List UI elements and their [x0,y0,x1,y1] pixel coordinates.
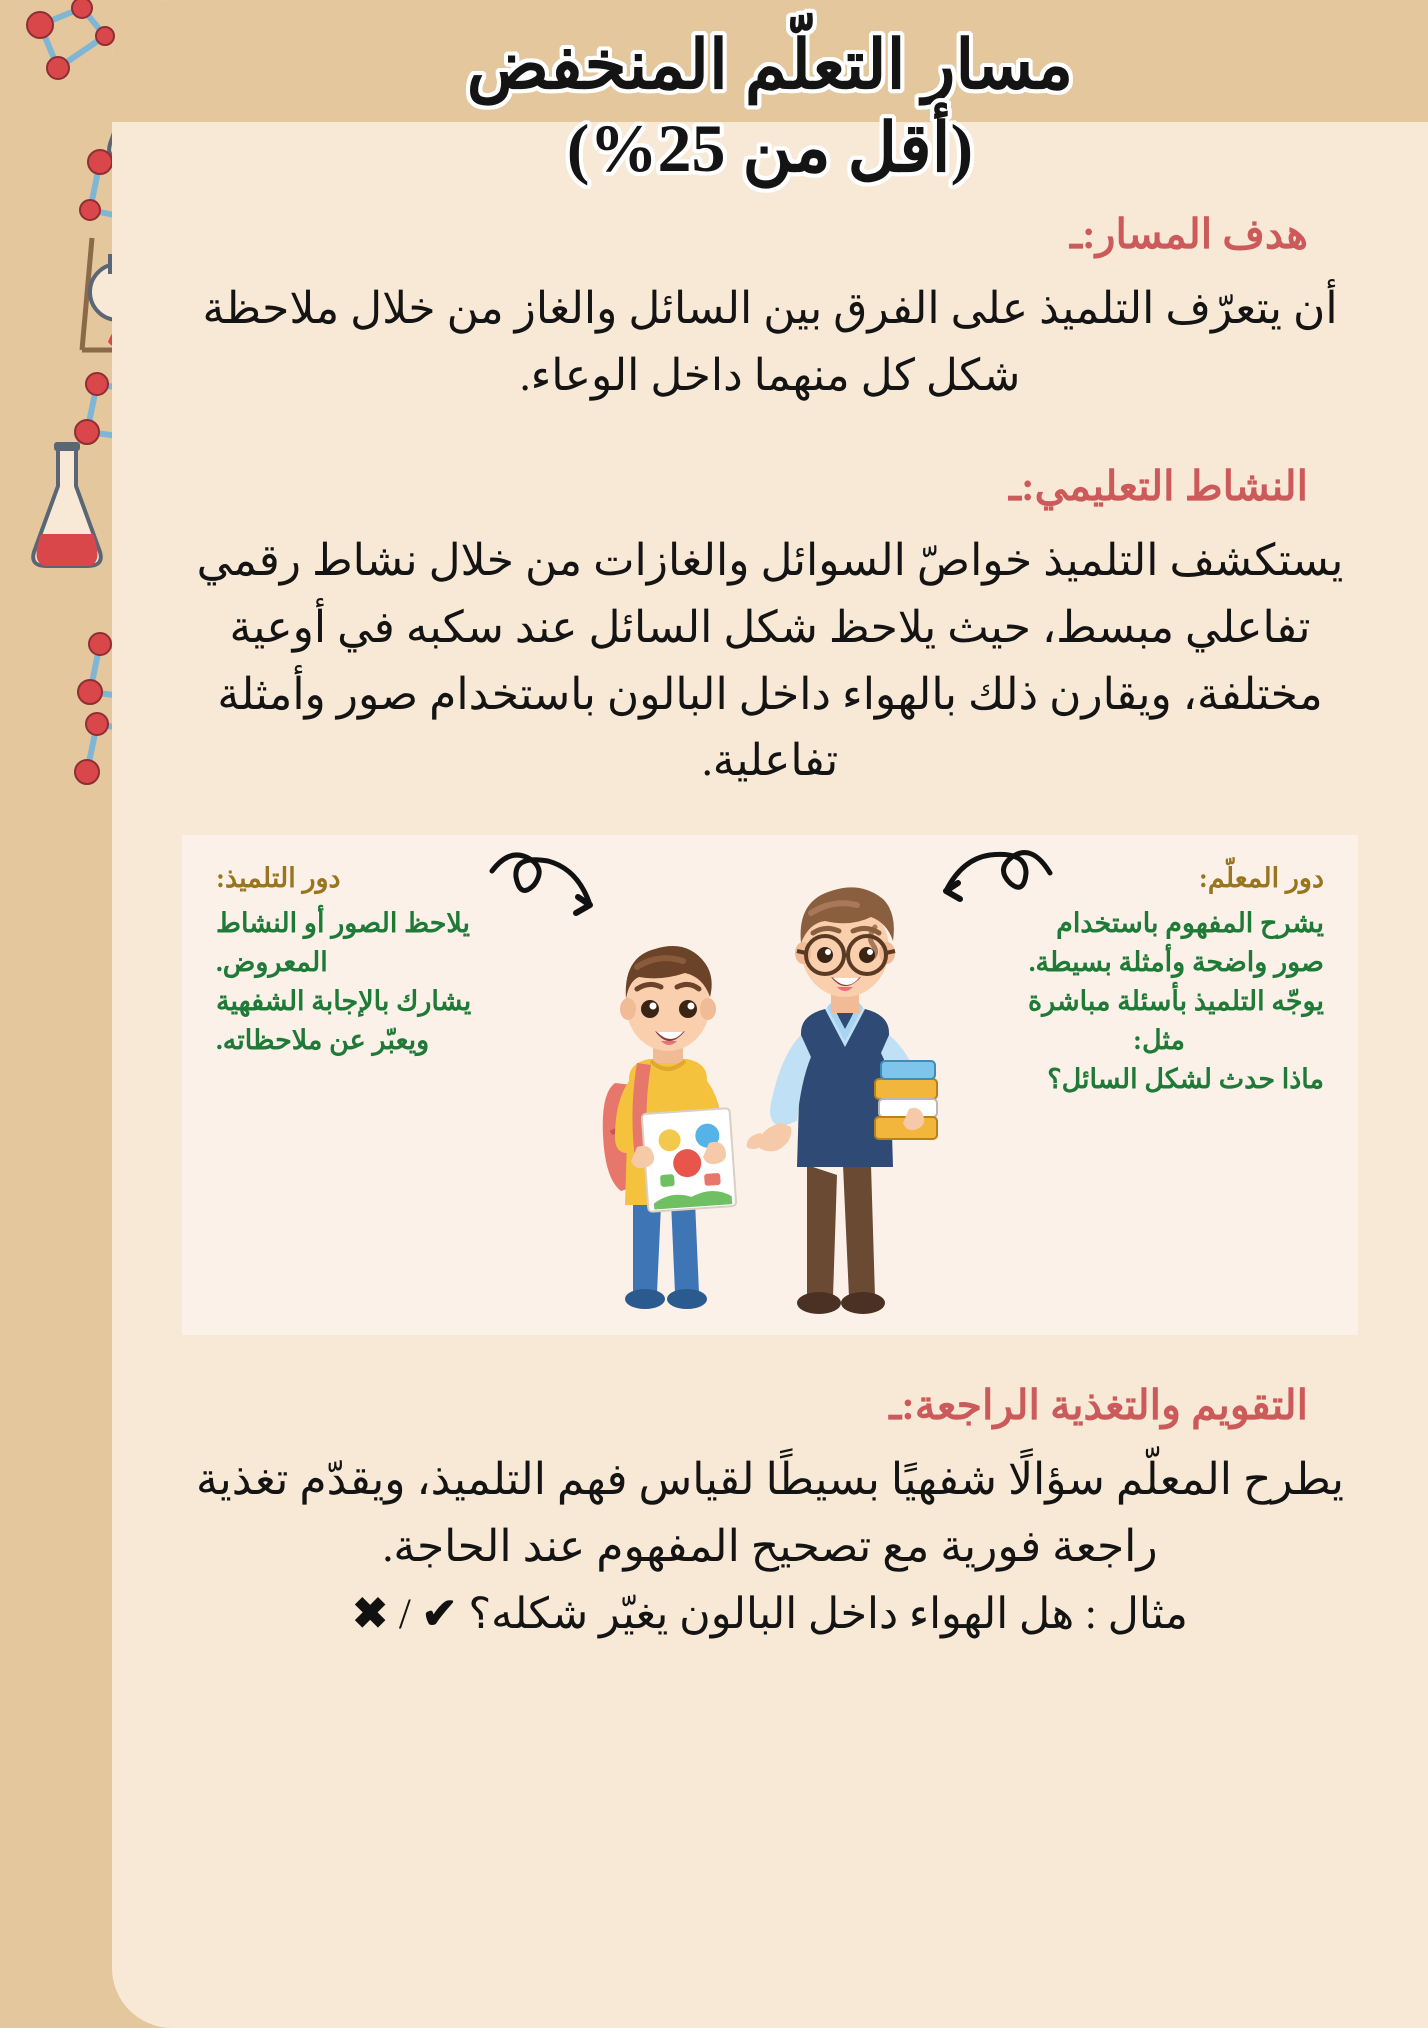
page-title: مسار التعلّم المنخفض (أقل من 25%) [112,24,1428,190]
cross-mark-icon: ✖ [352,1591,388,1638]
roles-panel: دور المعلّم: يشرح المفهوم باستخدام صور و… [182,835,1358,1335]
assessment-body: يطرح المعلّم سؤالًا شفهيًا بسيطًا لقياس … [152,1447,1388,1581]
arrow-to-teacher-icon [928,843,1058,923]
assessment-section: التقويم والتغذية الراجعة:ـ يطرح المعلّم … [152,1381,1388,1639]
poster-root: مسار التعلّم المنخفض (أقل من 25%) هدف ال… [0,0,1428,2028]
teacher-role-line: صور واضحة وأمثلة بسيطة. [994,943,1324,982]
student-role-line: المعروض. [216,943,546,982]
goal-heading: هدف المسار:ـ [152,210,1388,258]
activity-heading: النشاط التعليمي:ـ [152,462,1388,510]
assessment-example-text: مثال : هل الهواء داخل البالون يغيّر شكله… [468,1591,1188,1638]
mark-separator: / [399,1591,411,1638]
activity-body: يستكشف التلميذ خواصّ السوائل والغازات من… [152,528,1388,796]
student-role-line: ويعبّر عن ملاحظاته. [216,1021,546,1060]
check-mark-icon: ✔ [422,1591,458,1638]
title-line-2: (أقل من 25%) [112,107,1428,190]
poster-card: مسار التعلّم المنخفض (أقل من 25%) هدف ال… [112,0,1428,2028]
goal-body: أن يتعرّف التلميذ على الفرق بين السائل و… [152,276,1388,410]
content-area: هدف المسار:ـ أن يتعرّف التلميذ على الفرق… [152,210,1388,1639]
teacher-role-line: يوجّه التلميذ بأسئلة مباشرة [994,982,1324,1021]
student-role-line: يشارك بالإجابة الشفهية [216,982,546,1021]
illustration-svg [575,865,965,1325]
science-decorations [0,0,120,2028]
title-line-1: مسار التعلّم المنخفض [112,24,1428,107]
teacher-role-line: ماذا حدث لشكل السائل؟ [994,1060,1324,1099]
assessment-example-row: مثال : هل الهواء داخل البالون يغيّر شكله… [152,1589,1388,1639]
flask-icon [22,440,122,580]
teacher-student-illustration [575,865,965,1325]
teacher-role-line: مثل: [994,1021,1324,1060]
arrow-to-student-icon [482,845,612,935]
assessment-heading: التقويم والتغذية الراجعة:ـ [152,1381,1388,1429]
